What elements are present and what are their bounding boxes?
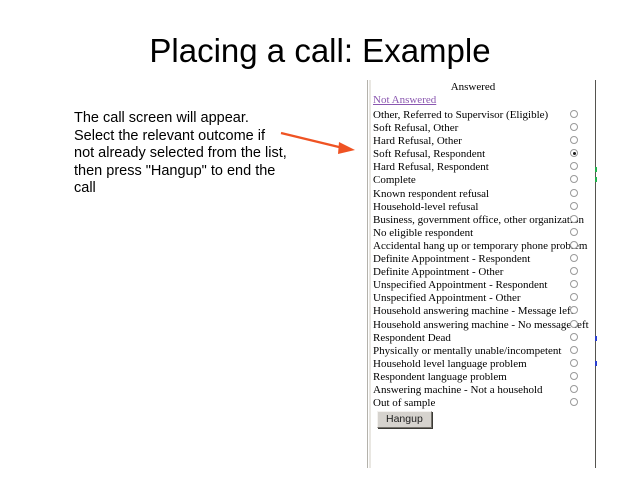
- outcome-row[interactable]: Household level language problem: [373, 356, 591, 369]
- call-outcome-list: Other, Referred to Supervisor (Eligible)…: [373, 107, 591, 408]
- outcome-radio[interactable]: [570, 136, 578, 144]
- outcome-radio[interactable]: [570, 175, 578, 183]
- outcome-row[interactable]: Respondent language problem: [373, 369, 591, 382]
- outcome-row[interactable]: Hard Refusal, Respondent: [373, 159, 591, 172]
- call-screen-content: Answered Not Answered Other, Referred to…: [373, 80, 591, 468]
- instruction-text: The call screen will appear. Select the …: [74, 110, 289, 198]
- outcome-radio[interactable]: [570, 398, 578, 406]
- outcome-radio[interactable]: [570, 254, 578, 262]
- outcome-row[interactable]: Complete: [373, 172, 591, 185]
- outcome-radio[interactable]: [570, 359, 578, 367]
- outcome-radio[interactable]: [570, 267, 578, 275]
- outcome-radio[interactable]: [570, 293, 578, 301]
- outcome-radio[interactable]: [570, 228, 578, 236]
- outcome-row[interactable]: Known respondent refusal: [373, 186, 591, 199]
- outcome-row[interactable]: Definite Appointment - Respondent: [373, 251, 591, 264]
- edge-artifact-blue-2: [595, 361, 597, 366]
- outcome-radio[interactable]: [570, 333, 578, 341]
- outcome-row[interactable]: Hard Refusal, Other: [373, 133, 591, 146]
- outcome-radio[interactable]: [570, 372, 578, 380]
- outcome-row[interactable]: Respondent Dead: [373, 330, 591, 343]
- panel-inner-edge: [369, 80, 371, 468]
- outcome-radio[interactable]: [570, 202, 578, 210]
- edge-artifact-blue-1: [595, 336, 597, 341]
- outcome-row[interactable]: Household-level refusal: [373, 199, 591, 212]
- outcome-row[interactable]: Out of sample: [373, 395, 591, 408]
- outcome-radio[interactable]: [570, 149, 578, 157]
- outcome-radio[interactable]: [570, 346, 578, 354]
- hangup-button[interactable]: Hangup: [377, 411, 432, 428]
- outcome-label: Out of sample: [373, 397, 435, 410]
- outcome-row[interactable]: Other, Referred to Supervisor (Eligible): [373, 107, 591, 120]
- page-title: Placing a call: Example: [0, 32, 640, 70]
- not-answered-link[interactable]: Not Answered: [373, 94, 445, 107]
- outcome-row[interactable]: Accidental hang up or temporary phone pr…: [373, 238, 591, 251]
- outcome-radio[interactable]: [570, 385, 578, 393]
- outcome-radio[interactable]: [570, 110, 578, 118]
- outcome-radio[interactable]: [570, 320, 578, 328]
- outcome-row[interactable]: No eligible respondent: [373, 225, 591, 238]
- outcome-radio[interactable]: [570, 189, 578, 197]
- answered-heading: Answered: [373, 80, 573, 94]
- outcome-row[interactable]: Unspecified Appointment - Other: [373, 290, 591, 303]
- outcome-row[interactable]: Household answering machine - No message…: [373, 317, 591, 330]
- outcome-row[interactable]: Definite Appointment - Other: [373, 264, 591, 277]
- outcome-radio[interactable]: [570, 241, 578, 249]
- outcome-radio[interactable]: [570, 123, 578, 131]
- outcome-row[interactable]: Answering machine - Not a household: [373, 382, 591, 395]
- outcome-row[interactable]: Soft Refusal, Respondent: [373, 146, 591, 159]
- outcome-row[interactable]: Physically or mentally unable/incompeten…: [373, 343, 591, 356]
- edge-artifact-green-2: [595, 177, 597, 182]
- edge-artifact-green-1: [595, 167, 597, 172]
- outcome-row[interactable]: Soft Refusal, Other: [373, 120, 591, 133]
- call-screen-panel: Answered Not Answered Other, Referred to…: [367, 80, 596, 468]
- outcome-radio[interactable]: [570, 280, 578, 288]
- outcome-row[interactable]: Business, government office, other organ…: [373, 212, 591, 225]
- outcome-radio[interactable]: [570, 306, 578, 314]
- outcome-row[interactable]: Unspecified Appointment - Respondent: [373, 277, 591, 290]
- outcome-row[interactable]: Household answering machine - Message le…: [373, 303, 591, 316]
- outcome-radio[interactable]: [570, 162, 578, 170]
- outcome-radio[interactable]: [570, 215, 578, 223]
